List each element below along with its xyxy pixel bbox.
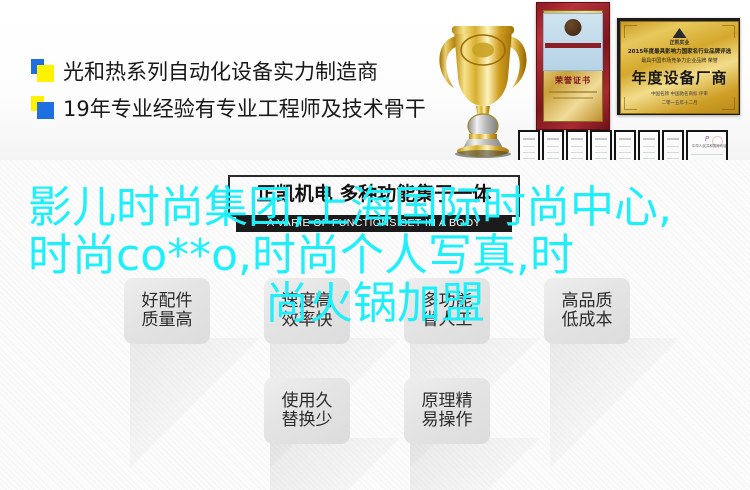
feature-tile-high-speed[interactable]: 速度高 效率快	[264, 278, 350, 344]
top-banner: 光和热系列自动化设备实力制造商 19年专业经验有专业工程师及技术骨干	[0, 0, 750, 160]
certificate-title: 中华人民共和国专利证书	[692, 144, 726, 149]
feature-tile-line-1: 速度高	[282, 292, 333, 311]
feature-tile-line-2: 效率快	[282, 311, 333, 330]
feature-tile-multifunction[interactable]: 多功能 省人工	[404, 278, 490, 344]
feature-tile-good-parts[interactable]: 好配件 质量高	[124, 278, 210, 344]
machine-banner-en: A VARIE OF FUNCTIONS SET IN A BOOY	[236, 215, 512, 232]
feature-tile-durable[interactable]: 使用久 替换少	[264, 378, 350, 444]
plaque-gold-brand: 正凯实业	[669, 39, 689, 46]
patent-mark-icon: P	[705, 135, 709, 143]
certificate-frame	[566, 130, 588, 160]
plaque-gold-line-1: 2015年度最具影响力国家名行业品牌评选	[628, 47, 731, 55]
machine-banner-en-bar: A VARIE OF FUNCTIONS SET IN A BOOY	[236, 215, 512, 232]
tile-shadow	[270, 438, 400, 490]
certificate-frame	[614, 130, 636, 160]
feature-tile-line-1: 好配件	[142, 292, 193, 311]
feature-tile-line-1: 多功能	[422, 292, 473, 311]
feature-tile-line-2: 质量高	[142, 311, 193, 330]
bullet-line-1: 光和热系列自动化设备实力制造商	[31, 56, 378, 86]
feature-tile-line-2: 省人工	[422, 311, 473, 330]
bullet-text-2: 19年专业经验有专业工程师及技术骨干	[63, 93, 426, 123]
feature-tile-line-1: 使用久	[282, 392, 333, 411]
plaque-gold-headline: 年度设备厂商	[631, 67, 727, 88]
brand-logo-icon	[673, 28, 687, 38]
feature-tile-high-quality[interactable]: 高品质 低成本	[544, 278, 630, 344]
feature-tile-line-1: 原理精	[422, 392, 473, 411]
certificate-frame	[662, 130, 684, 160]
bullet-line-2: 19年专业经验有专业工程师及技术骨干	[31, 93, 426, 123]
tile-shadow	[410, 438, 540, 490]
square-pair-yellow-blue-icon	[31, 96, 57, 120]
award-plaque-red: 荣誉证书	[536, 2, 610, 130]
machine-banner-cn: 正凯机电 多种功能集于一体	[228, 179, 520, 206]
plaque-gold-line-2: 最具中国市场竞争力企业品牌 荣誉	[641, 57, 718, 64]
certificate-frame	[542, 130, 564, 160]
certificate-frame	[590, 130, 612, 160]
square-pair-blue-yellow-icon	[31, 59, 57, 83]
tile-shadow	[130, 338, 260, 468]
award-plaque-gold: 正凯实业 2015年度最具影响力国家名行业品牌评选 最具中国市场竞争力企业品牌 …	[617, 18, 740, 115]
page-root: 光和热系列自动化设备实力制造商 19年专业经验有专业工程师及技术骨干	[0, 0, 750, 490]
plaque-gold-footer-2: 二零一五年十二月	[662, 100, 698, 106]
certificate-frame-wide: P 中华人民共和国专利证书	[686, 130, 728, 160]
feature-tile-easy-operation[interactable]: 原理精 易操作	[404, 378, 490, 444]
certificate-row: P 中华人民共和国专利证书	[518, 130, 728, 160]
tile-shadow	[550, 338, 680, 468]
machine-banner: 正凯机电 多种功能集于一体 A VARIE OF FUNCTIONS SET I…	[228, 175, 520, 235]
plaque-red-title: 荣誉证书	[537, 75, 609, 86]
certificate-frame	[518, 130, 540, 160]
feature-tile-line-2: 替换少	[282, 411, 333, 430]
features-section: 正凯机电 多种功能集于一体 A VARIE OF FUNCTIONS SET I…	[0, 160, 750, 490]
feature-tile-line-2: 低成本	[562, 311, 613, 330]
feature-tile-line-1: 高品质	[562, 292, 613, 311]
round-seal-icon	[565, 19, 582, 36]
bullet-text-1: 光和热系列自动化设备实力制造商	[63, 56, 378, 86]
plaque-gold-footer-1: 中国名牌 中国驰名商标 评审	[651, 91, 708, 97]
certificate-frame	[638, 130, 660, 160]
feature-tile-line-2: 易操作	[422, 411, 473, 430]
